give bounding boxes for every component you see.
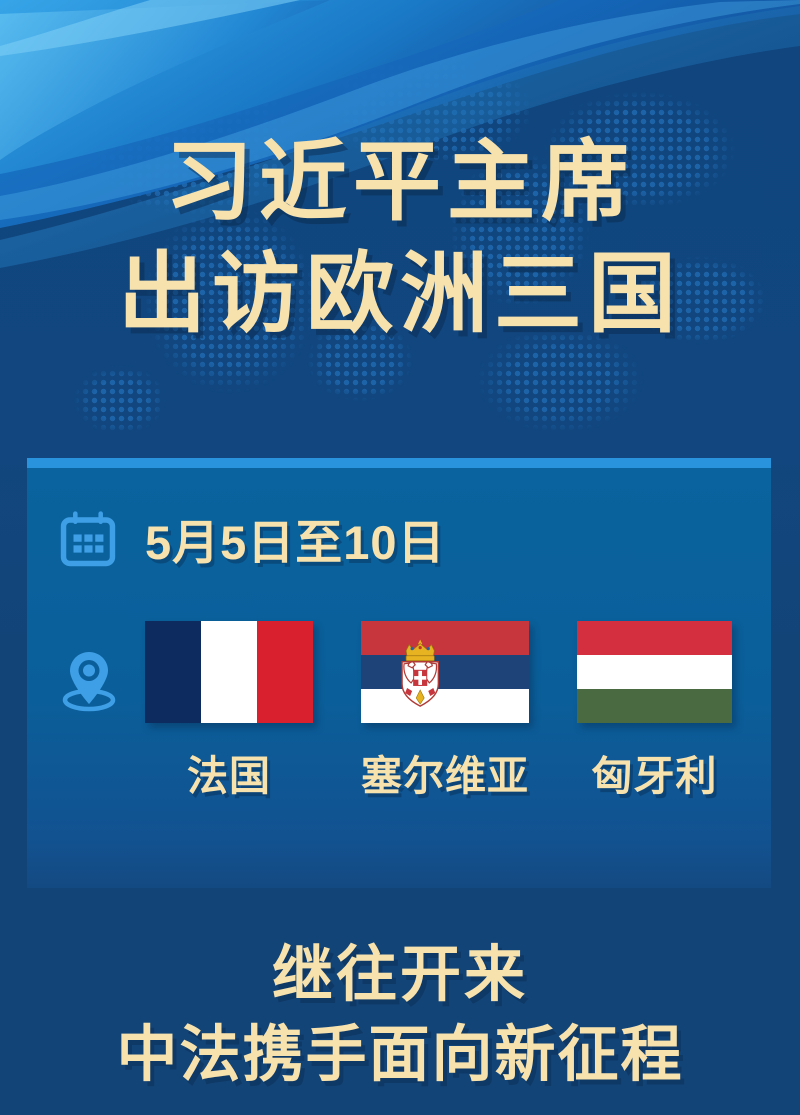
country-item-france: 法国 xyxy=(145,621,313,802)
serbia-flag xyxy=(361,621,529,723)
hungary-flag-green-band xyxy=(577,689,732,723)
country-item-serbia: 塞尔维亚 xyxy=(361,621,529,802)
infographic-poster: 习近平主席 出访欧洲三国 5月5日至10日 xyxy=(0,0,800,1115)
footer-line-1: 继往开来 xyxy=(0,938,800,1010)
footer-line-2: 中法携手面向新征程 xyxy=(0,1016,800,1092)
france-flag-white-band xyxy=(201,621,257,723)
headline-line-1: 习近平主席 xyxy=(0,126,800,238)
country-label-serbia: 塞尔维亚 xyxy=(361,742,529,802)
visit-date-text: 5月5日至10日 xyxy=(145,504,446,573)
serbia-flag-white-band xyxy=(361,689,529,723)
serbia-flag-red-band xyxy=(361,621,529,655)
country-item-hungary: 匈牙利 xyxy=(577,621,732,802)
headline-line-2: 出访欧洲三国 xyxy=(0,238,800,350)
details-card: 5月5日至10日 法国 xyxy=(27,458,771,888)
hungary-flag-white-band xyxy=(577,655,732,689)
serbia-flag-blue-band xyxy=(361,655,529,689)
calendar-icon xyxy=(59,510,117,568)
poster-headline: 习近平主席 出访欧洲三国 xyxy=(0,126,800,350)
map-pin-icon xyxy=(61,646,117,712)
country-flag-list: 法国 xyxy=(145,621,745,802)
france-flag-blue-band xyxy=(145,621,201,723)
hungary-flag-red-band xyxy=(577,621,732,655)
card-accent-bar xyxy=(27,458,771,468)
france-flag xyxy=(145,621,313,723)
footer-slogan: 继往开来 中法携手面向新征程 xyxy=(0,938,800,1092)
serbia-coat-of-arms-icon xyxy=(395,629,445,715)
date-row: 5月5日至10日 xyxy=(59,504,446,573)
country-label-hungary: 匈牙利 xyxy=(577,742,732,802)
france-flag-red-band xyxy=(257,621,313,723)
country-label-france: 法国 xyxy=(145,742,313,802)
location-pin-wrapper xyxy=(61,646,117,712)
hungary-flag xyxy=(577,621,732,723)
